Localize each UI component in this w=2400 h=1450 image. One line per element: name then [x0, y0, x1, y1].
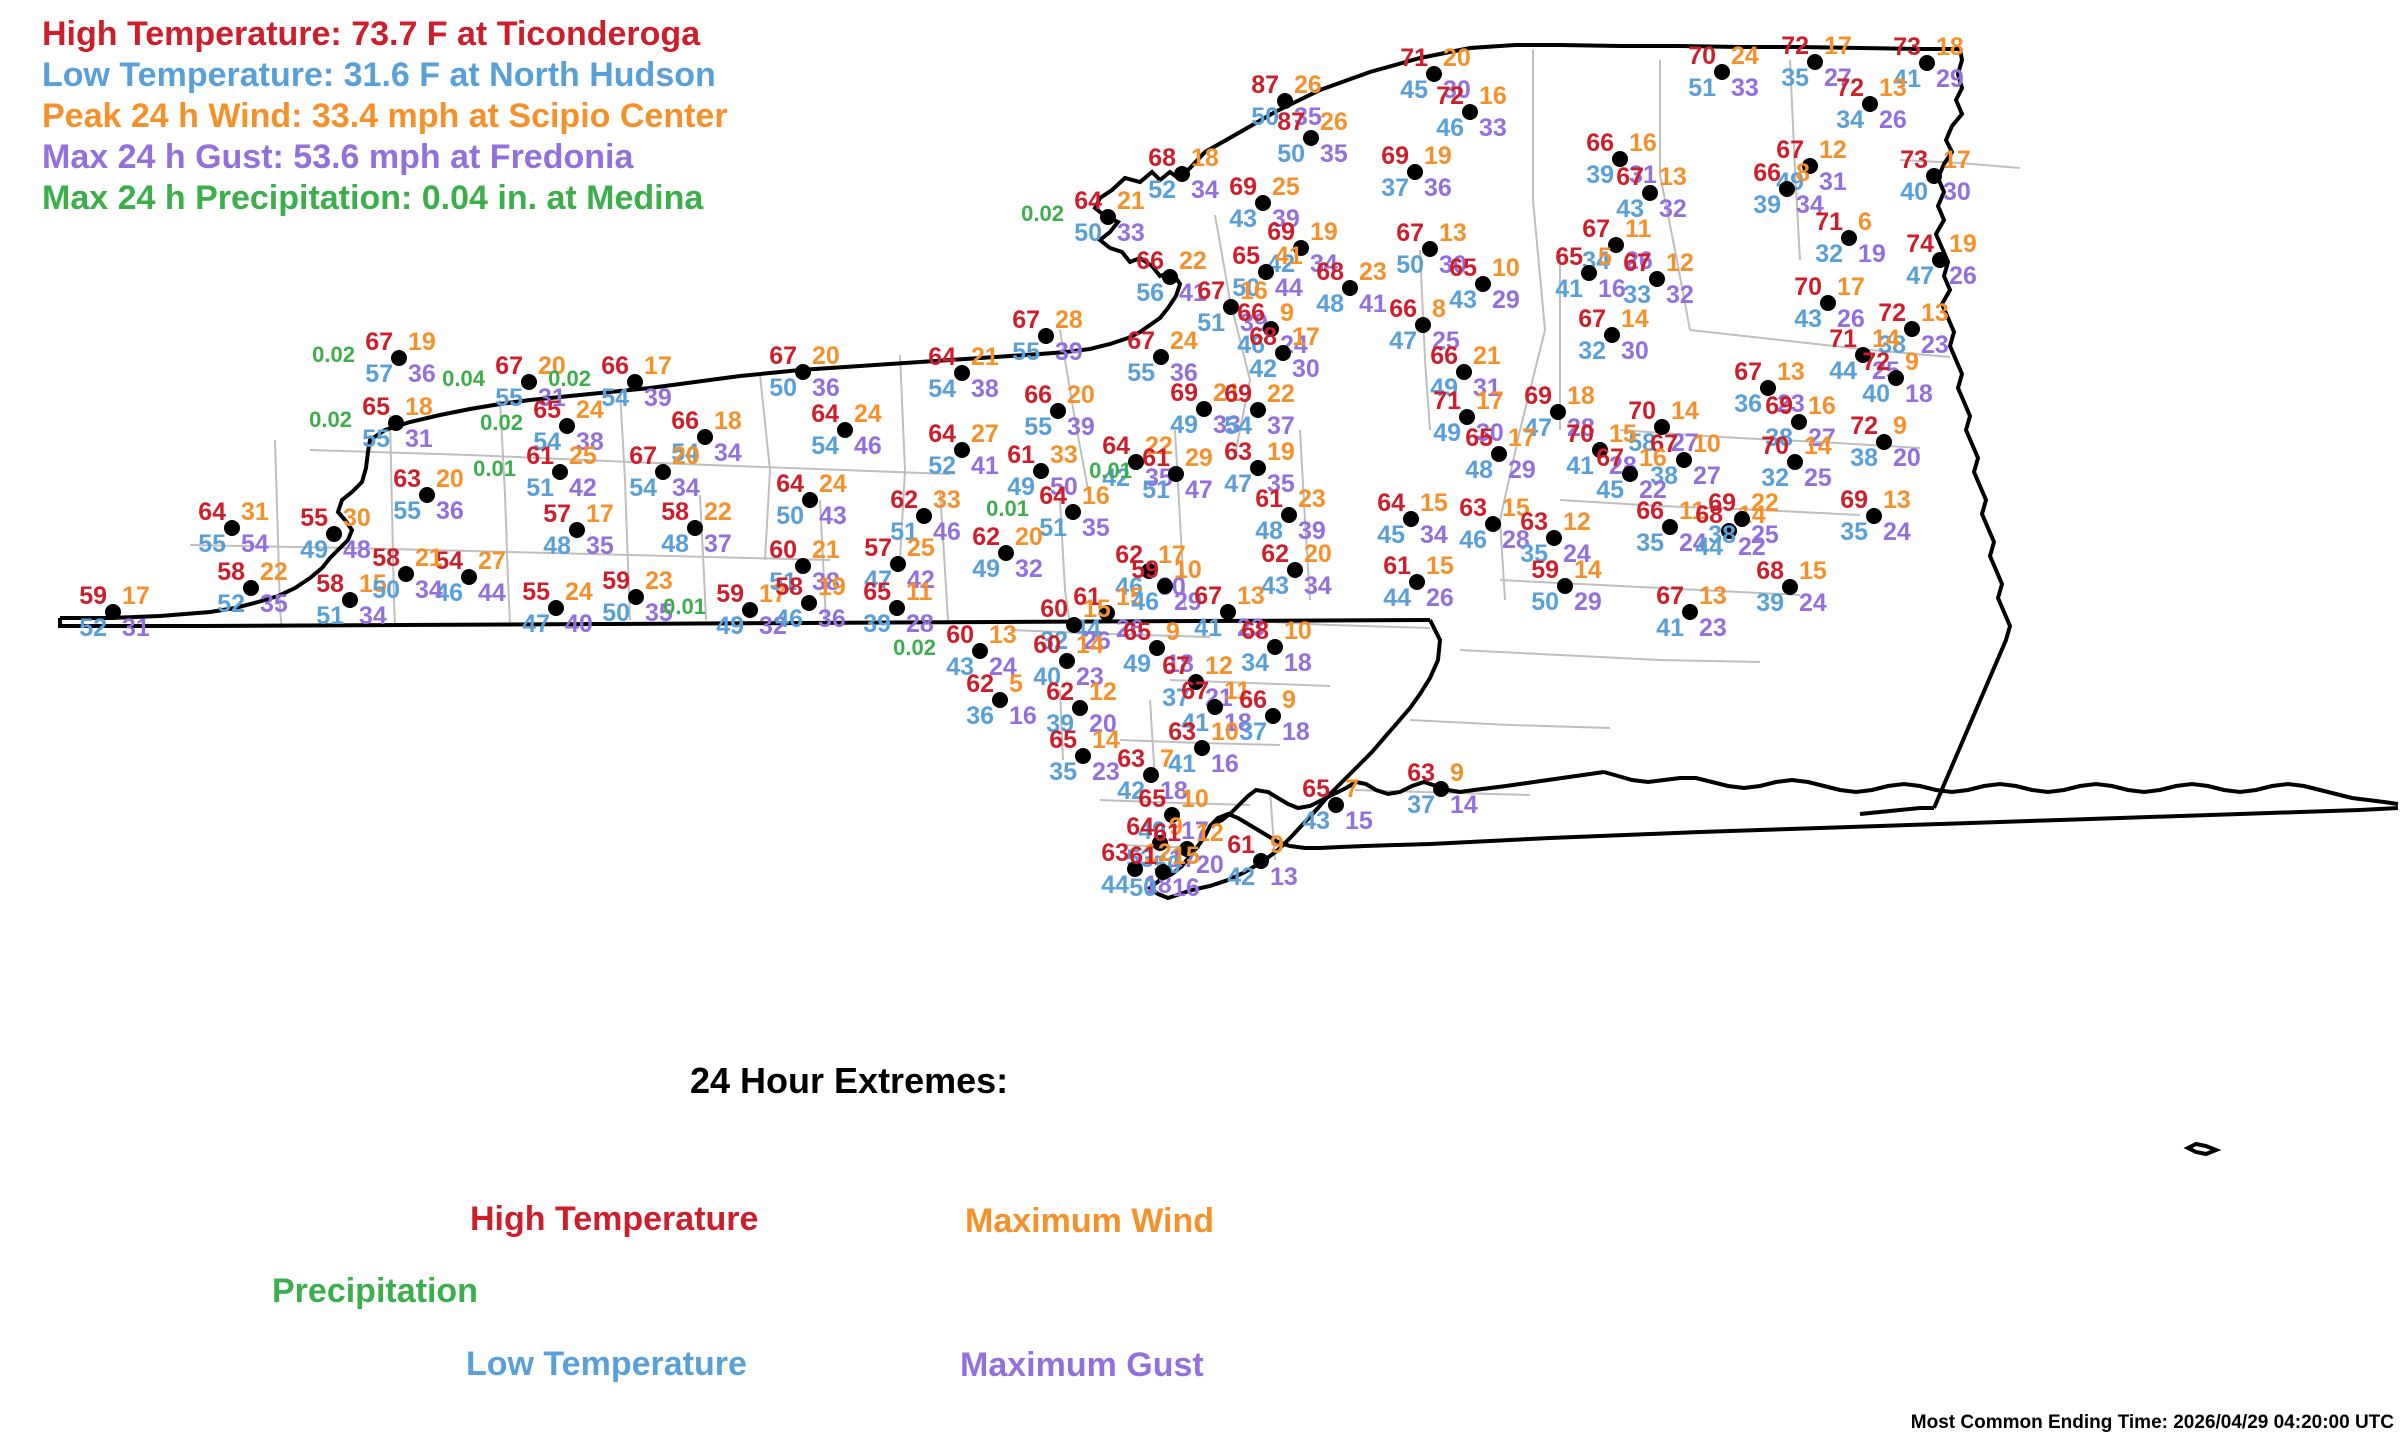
- station-max-wind: 15: [1083, 597, 1111, 622]
- station-low-temperature: 41: [1555, 277, 1583, 302]
- station-max-gust: 34: [714, 441, 742, 466]
- station-max-wind: 16: [1479, 84, 1507, 109]
- station-low-temperature: 55: [198, 532, 226, 557]
- station-dot-icon: [1642, 185, 1658, 201]
- station-max-gust: 19: [1858, 242, 1886, 267]
- station-max-wind: 20: [672, 444, 700, 469]
- station-dot-icon: [552, 464, 568, 480]
- station-dot-icon: [1919, 55, 1935, 71]
- station-low-temperature: 32: [1578, 339, 1606, 364]
- station-high-temperature: 67: [1197, 279, 1225, 304]
- station-high-temperature: 65: [1138, 787, 1166, 812]
- station-high-temperature: 66: [1136, 249, 1164, 274]
- station-low-temperature: 50: [1074, 221, 1102, 246]
- station-max-wind: 5: [1009, 672, 1023, 697]
- station-max-gust: 37: [704, 532, 732, 557]
- station-dot-icon: [548, 600, 564, 616]
- station-low-temperature: 32: [1761, 466, 1789, 491]
- station-max-wind: 18: [405, 395, 433, 420]
- station-high-temperature: 71: [1829, 327, 1857, 352]
- station-dot-icon: [1714, 64, 1730, 80]
- station-dot-icon: [795, 364, 811, 380]
- station-high-temperature: 68: [1241, 619, 1269, 644]
- station-max-gust: 43: [819, 504, 847, 529]
- station-max-wind: 8: [1432, 297, 1446, 322]
- station-max-gust: 29: [1936, 67, 1964, 92]
- station-high-temperature: 62: [972, 525, 1000, 550]
- station-low-temperature: 38: [1850, 446, 1878, 471]
- station-high-temperature: 61: [1255, 487, 1283, 512]
- station-high-temperature: 66: [1024, 383, 1052, 408]
- station-max-wind: 20: [1304, 542, 1332, 567]
- station-max-wind: 16: [1629, 131, 1657, 156]
- station-high-temperature: 58: [372, 546, 400, 571]
- station-high-temperature: 70: [1566, 422, 1594, 447]
- station-precipitation: 0.02: [312, 342, 355, 367]
- ending-time-label: Most Common Ending Time: 2026/04/29 04:2…: [1911, 1412, 2394, 1434]
- station-low-temperature: 50: [776, 504, 804, 529]
- station-low-temperature: 50: [1396, 253, 1424, 278]
- station-max-wind: 17: [1837, 275, 1865, 300]
- station-high-temperature: 63: [1224, 440, 1252, 465]
- station-dot-icon: [795, 558, 811, 574]
- station-max-wind: 24: [576, 398, 604, 423]
- station-low-temperature: 54: [811, 434, 839, 459]
- station-max-gust: 54: [241, 532, 269, 557]
- station-max-wind: 11: [906, 580, 932, 605]
- station-dot-icon: [655, 464, 671, 480]
- station-max-wind: 13: [1921, 301, 1949, 326]
- station-max-wind: 17: [1943, 148, 1971, 173]
- station-dot-icon: [1485, 516, 1501, 532]
- station-high-temperature: 69: [1840, 488, 1868, 513]
- station-dot-icon: [801, 595, 817, 611]
- station-max-gust: 31: [405, 427, 433, 452]
- station-high-temperature: 71: [1433, 389, 1461, 414]
- station-low-temperature: 55: [1012, 340, 1040, 365]
- station-high-temperature: 87: [1251, 73, 1279, 98]
- station-max-gust: 39: [644, 386, 672, 411]
- station-max-gust: 29: [1492, 288, 1520, 313]
- station-max-wind: 13: [989, 623, 1017, 648]
- station-max-gust: 14: [1450, 793, 1478, 818]
- station-dot-icon: [972, 643, 988, 659]
- station-dot-icon: [1050, 403, 1066, 419]
- station-max-wind: 18: [714, 409, 742, 434]
- station-dot-icon: [1072, 700, 1088, 716]
- station-dot-icon: [890, 556, 906, 572]
- station-high-temperature: 65: [1465, 426, 1493, 451]
- station-low-temperature: 35: [1049, 760, 1077, 785]
- station-max-wind: 19: [408, 330, 436, 355]
- station-max-gust: 35: [260, 592, 288, 617]
- station-high-temperature: 65: [1302, 777, 1330, 802]
- station-low-temperature: 50: [769, 376, 797, 401]
- station-high-temperature: 62: [1046, 680, 1074, 705]
- station-max-gust: 36: [1424, 176, 1452, 201]
- station-high-temperature: 64: [1126, 815, 1154, 840]
- legend-precipitation: Precipitation: [272, 1272, 478, 1311]
- extreme-max-precipitation: Max 24 h Precipitation: 0.04 in. at Medi…: [42, 178, 1042, 219]
- station-max-wind: 31: [241, 500, 269, 525]
- station-max-wind: 15: [1420, 491, 1448, 516]
- station-max-gust: 44: [1275, 276, 1303, 301]
- extremes-summary: High Temperature: 73.7 F at Ticonderoga …: [42, 14, 1042, 219]
- station-dot-icon: [1676, 452, 1692, 468]
- station-max-wind: 13: [1439, 221, 1467, 246]
- station-max-gust: 23: [1699, 616, 1727, 641]
- station-max-wind: 20: [1443, 46, 1471, 71]
- station-dot-icon: [326, 526, 342, 542]
- station-high-temperature: 69: [1765, 394, 1793, 419]
- station-max-wind: 30: [343, 506, 371, 531]
- station-high-temperature: 67: [629, 444, 657, 469]
- station-dot-icon: [1403, 511, 1419, 527]
- station-dot-icon: [1157, 578, 1173, 594]
- station-dot-icon: [569, 522, 585, 538]
- station-dot-icon: [1888, 370, 1904, 386]
- station-high-temperature: 63: [1117, 747, 1145, 772]
- station-dot-icon: [1033, 463, 1049, 479]
- station-max-wind: 23: [1298, 487, 1326, 512]
- station-dot-icon: [1926, 168, 1942, 184]
- station-max-wind: 22: [260, 560, 288, 585]
- station-dot-icon: [1407, 164, 1423, 180]
- station-low-temperature: 50: [1251, 105, 1279, 130]
- station-high-temperature: 67: [1582, 217, 1610, 242]
- station-low-temperature: 46: [1131, 590, 1159, 615]
- station-high-temperature: 62: [890, 488, 918, 513]
- station-max-wind: 9: [1893, 414, 1907, 439]
- station-dot-icon: [1779, 181, 1795, 197]
- station-high-temperature: 65: [1123, 620, 1151, 645]
- station-dot-icon: [1075, 748, 1091, 764]
- station-low-temperature: 57: [365, 362, 393, 387]
- station-max-wind: 14: [1092, 728, 1120, 753]
- station-max-gust: 23: [1921, 333, 1949, 358]
- station-max-wind: 25: [907, 536, 935, 561]
- station-max-wind: 25: [569, 444, 597, 469]
- station-max-wind: 18: [1191, 146, 1219, 171]
- extreme-high-temperature: High Temperature: 73.7 F at Ticonderoga: [42, 14, 1042, 55]
- station-dot-icon: [1250, 402, 1266, 418]
- station-dot-icon: [1862, 96, 1878, 112]
- station-dot-icon: [1649, 271, 1665, 287]
- station-high-temperature: 64: [928, 422, 956, 447]
- station-max-wind: 16: [1082, 484, 1110, 509]
- station-dot-icon: [1065, 504, 1081, 520]
- station-dot-icon: [1194, 740, 1210, 756]
- station-dot-icon: [1174, 166, 1190, 182]
- station-max-gust: 40: [565, 612, 593, 637]
- station-low-temperature: 50: [1531, 590, 1559, 615]
- station-low-temperature: 41: [1566, 454, 1594, 479]
- station-high-temperature: 68: [1756, 559, 1784, 584]
- station-high-temperature: 65: [1449, 256, 1477, 281]
- station-high-temperature: 71: [1400, 46, 1428, 71]
- station-high-temperature: 66: [1239, 688, 1267, 713]
- station-low-temperature: 39: [863, 612, 891, 637]
- station-low-temperature: 34: [1241, 651, 1269, 676]
- station-max-gust: 16: [1172, 876, 1200, 901]
- station-high-temperature: 70: [1688, 44, 1716, 69]
- station-max-wind: 12: [1819, 138, 1847, 163]
- station-precipitation: 0.01: [986, 496, 1029, 521]
- station-precipitation: 0.02: [309, 407, 352, 432]
- station-low-temperature: 41: [1656, 616, 1684, 641]
- station-low-temperature: 51: [526, 476, 554, 501]
- station-dot-icon: [342, 592, 358, 608]
- station-low-temperature: 49: [1433, 421, 1461, 446]
- station-max-gust: 39: [1055, 340, 1083, 365]
- station-max-wind: 23: [645, 569, 673, 594]
- station-max-wind: 18: [1936, 35, 1964, 60]
- station-dot-icon: [1462, 104, 1478, 120]
- station-high-temperature: 69: [1224, 382, 1252, 407]
- station-high-temperature: 65: [1049, 728, 1077, 753]
- station-max-wind: 24: [854, 402, 882, 427]
- station-low-temperature: 41: [1194, 616, 1222, 641]
- station-max-gust: 32: [1659, 197, 1687, 222]
- station-high-temperature: 73: [1900, 148, 1928, 173]
- station-max-gust: 25: [1804, 466, 1832, 491]
- station-max-wind: 19: [818, 575, 846, 600]
- station-high-temperature: 61: [1383, 554, 1411, 579]
- station-precipitation: 0.02: [548, 366, 591, 391]
- station-low-temperature: 52: [1148, 178, 1176, 203]
- station-dot-icon: [1287, 562, 1303, 578]
- station-low-temperature: 50: [1129, 876, 1157, 901]
- station-max-wind: 13: [1777, 360, 1805, 385]
- station-dot-icon: [1277, 93, 1293, 109]
- station-max-gust: 18: [1284, 651, 1312, 676]
- station-dot-icon: [1787, 454, 1803, 470]
- station-high-temperature: 67: [1012, 308, 1040, 333]
- station-max-wind: 5: [1598, 245, 1612, 270]
- station-low-temperature: 56: [1136, 281, 1164, 306]
- station-max-wind: 21: [812, 538, 840, 563]
- station-max-gust: 25: [1751, 523, 1779, 548]
- legend-high-temperature: High Temperature: [470, 1200, 758, 1239]
- station-dot-icon: [1876, 434, 1892, 450]
- station-dot-icon: [742, 602, 758, 618]
- station-low-temperature: 55: [393, 499, 421, 524]
- station-max-wind: 17: [1824, 34, 1852, 59]
- station-max-wind: 23: [1359, 260, 1387, 285]
- station-high-temperature: 58: [775, 575, 803, 600]
- station-max-wind: 10: [1181, 787, 1209, 812]
- station-max-wind: 29: [1185, 446, 1213, 471]
- station-max-wind: 9: [1905, 350, 1919, 375]
- station-low-temperature: 51: [1197, 311, 1225, 336]
- station-high-temperature: 67: [769, 344, 797, 369]
- station-max-wind: 13: [1659, 165, 1687, 190]
- station-dot-icon: [1491, 446, 1507, 462]
- station-dot-icon: [1433, 781, 1449, 797]
- station-low-temperature: 40: [1862, 382, 1890, 407]
- station-high-temperature: 66: [1636, 499, 1664, 524]
- station-high-temperature: 65: [533, 398, 561, 423]
- station-max-wind: 12: [1205, 654, 1233, 679]
- station-high-temperature: 67: [1596, 446, 1624, 471]
- station-max-wind: 16: [1639, 446, 1667, 471]
- station-max-wind: 7: [1160, 747, 1174, 772]
- station-high-temperature: 67: [1162, 654, 1190, 679]
- station-max-wind: 21: [971, 345, 999, 370]
- station-low-temperature: 49: [1123, 652, 1151, 677]
- station-dot-icon: [521, 374, 537, 390]
- station-max-wind: 28: [1055, 308, 1083, 333]
- station-high-temperature: 58: [217, 560, 245, 585]
- station-dot-icon: [1265, 708, 1281, 724]
- station-high-temperature: 66: [1586, 131, 1614, 156]
- station-high-temperature: 70: [1794, 275, 1822, 300]
- station-high-temperature: 69: [1524, 384, 1552, 409]
- station-dot-icon: [1328, 797, 1344, 813]
- station-dot-icon: [627, 374, 643, 390]
- station-low-temperature: 51: [1142, 478, 1170, 503]
- station-max-gust: 30: [1292, 357, 1320, 382]
- station-max-wind: 20: [812, 344, 840, 369]
- station-dot-icon: [1581, 265, 1597, 281]
- station-precipitation: 0.01: [473, 456, 516, 481]
- station-max-wind: 14: [1671, 399, 1699, 424]
- station-max-gust: 15: [1345, 809, 1373, 834]
- station-max-wind: 21: [415, 546, 443, 571]
- station-max-wind: 15: [1799, 559, 1827, 584]
- station-max-wind: 19: [1949, 232, 1977, 257]
- station-max-wind: 12: [1563, 510, 1591, 535]
- station-low-temperature: 47: [1389, 329, 1417, 354]
- station-high-temperature: 61: [526, 444, 554, 469]
- station-high-temperature: 68: [1316, 260, 1344, 285]
- station-max-gust: 18: [1282, 720, 1310, 745]
- station-low-temperature: 43: [1302, 809, 1330, 834]
- station-high-temperature: 63: [1459, 496, 1487, 521]
- station-high-temperature: 66: [1389, 297, 1417, 322]
- station-dot-icon: [1255, 195, 1271, 211]
- station-dot-icon: [1162, 269, 1178, 285]
- station-max-gust: 24: [1799, 591, 1827, 616]
- station-high-temperature: 72: [1436, 84, 1464, 109]
- station-high-temperature: 72: [1850, 414, 1878, 439]
- station-max-wind: 19: [1267, 440, 1295, 465]
- station-dot-icon: [889, 600, 905, 616]
- station-dot-icon: [1275, 345, 1291, 361]
- station-high-temperature: 61: [1227, 833, 1255, 858]
- station-low-temperature: 49: [972, 557, 1000, 582]
- station-max-wind: 24: [819, 472, 847, 497]
- station-dot-icon: [1734, 511, 1750, 527]
- station-max-wind: 17: [1508, 426, 1536, 451]
- station-dot-icon: [461, 569, 477, 585]
- station-high-temperature: 69: [1170, 381, 1198, 406]
- station-high-temperature: 64: [1039, 484, 1067, 509]
- station-low-temperature: 49: [716, 614, 744, 639]
- station-low-temperature: 42: [1249, 357, 1277, 382]
- station-low-temperature: 38: [1708, 523, 1736, 548]
- station-max-gust: 16: [1211, 752, 1239, 777]
- station-low-temperature: 52: [217, 592, 245, 617]
- station-dot-icon: [1153, 349, 1169, 365]
- station-max-gust: 28: [906, 612, 934, 637]
- station-low-temperature: 42: [1227, 865, 1255, 890]
- station-precipitation: 0.02: [480, 410, 523, 435]
- station-max-wind: 26: [1320, 110, 1348, 135]
- station-precipitation: 0.02: [893, 635, 936, 660]
- station-dot-icon: [388, 415, 404, 431]
- station-low-temperature: 50: [372, 578, 400, 603]
- station-low-temperature: 48: [661, 532, 689, 557]
- station-high-temperature: 59: [716, 582, 744, 607]
- station-max-gust: 42: [569, 476, 597, 501]
- station-max-wind: 27: [478, 549, 506, 574]
- station-precipitation: 0.01: [663, 594, 706, 619]
- station-max-wind: 24: [1731, 44, 1759, 69]
- station-precipitation: 0.02: [1021, 201, 1064, 226]
- station-high-temperature: 69: [1708, 491, 1736, 516]
- extreme-max-gust: Max 24 h Gust: 53.6 mph at Fredonia: [42, 137, 1042, 178]
- station-max-wind: 20: [1015, 525, 1043, 550]
- station-low-temperature: 37: [1381, 176, 1409, 201]
- station-max-wind: 10: [1492, 256, 1520, 281]
- station-low-temperature: 55: [495, 386, 523, 411]
- station-high-temperature: 60: [946, 623, 974, 648]
- extreme-peak-wind: Peak 24 h Wind: 33.4 mph at Scipio Cente…: [42, 96, 1042, 137]
- station-max-wind: 13: [1883, 488, 1911, 513]
- station-dot-icon: [1342, 280, 1358, 296]
- station-low-temperature: 55: [1127, 361, 1155, 386]
- station-dot-icon: [1546, 530, 1562, 546]
- station-low-temperature: 46: [1459, 528, 1487, 553]
- station-dot-icon: [105, 604, 121, 620]
- station-max-gust: 46: [933, 520, 961, 545]
- station-high-temperature: 68: [1249, 325, 1277, 350]
- station-low-temperature: 47: [1906, 264, 1934, 289]
- station-high-temperature: 58: [316, 572, 344, 597]
- station-max-gust: 18: [1905, 382, 1933, 407]
- station-low-temperature: 39: [1753, 193, 1781, 218]
- station-high-temperature: 59: [602, 569, 630, 594]
- station-dot-icon: [243, 580, 259, 596]
- station-max-wind: 12: [1666, 251, 1694, 276]
- station-dot-icon: [1820, 295, 1836, 311]
- station-low-temperature: 45: [1400, 78, 1428, 103]
- station-max-gust: 20: [1893, 446, 1921, 471]
- station-low-temperature: 54: [928, 377, 956, 402]
- station-dot-icon: [1168, 466, 1184, 482]
- station-max-wind: 17: [586, 502, 614, 527]
- station-max-gust: 35: [1082, 516, 1110, 541]
- station-dot-icon: [1426, 66, 1442, 82]
- station-max-wind: 9: [1282, 688, 1296, 713]
- station-dot-icon: [1604, 327, 1620, 343]
- station-max-gust: 33: [1479, 116, 1507, 141]
- station-high-temperature: 63: [1520, 510, 1548, 535]
- station-max-wind: 12: [1196, 821, 1224, 846]
- station-dot-icon: [954, 442, 970, 458]
- station-max-wind: 21: [1117, 189, 1145, 214]
- station-high-temperature: 67: [495, 354, 523, 379]
- station-dot-icon: [1932, 252, 1948, 268]
- station-max-wind: 22: [1179, 249, 1207, 274]
- station-low-temperature: 43: [1794, 307, 1822, 332]
- station-low-temperature: 39: [1586, 163, 1614, 188]
- station-dot-icon: [954, 365, 970, 381]
- station-max-wind: 13: [1237, 584, 1265, 609]
- station-dot-icon: [1866, 508, 1882, 524]
- station-max-gust: 16: [1009, 704, 1037, 729]
